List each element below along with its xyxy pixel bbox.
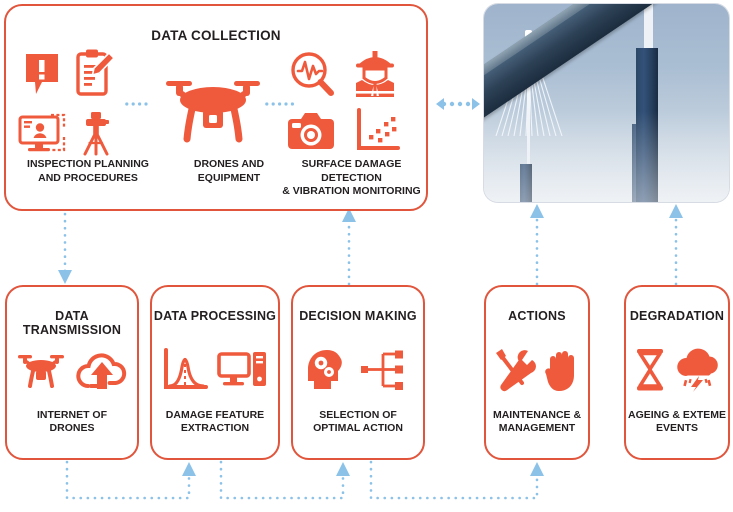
connector-transmission-to-processing <box>67 462 196 498</box>
hourglass-icon <box>633 347 667 393</box>
drone-dots-right <box>260 102 304 106</box>
decision-making-icons <box>293 343 423 397</box>
desktop-computer-icon <box>217 348 269 392</box>
degradation-icons <box>626 343 728 397</box>
data-transmission-title: DATA TRANSMISSION <box>7 309 137 337</box>
alert-speech-bubble-icon <box>24 52 64 96</box>
connector-collection-to-transmission <box>58 214 72 284</box>
label-inspection-planning: INSPECTION PLANNING AND PROCEDURES <box>8 158 168 185</box>
hand-icon <box>544 347 582 393</box>
actions-icons <box>486 343 588 397</box>
connector-decision-to-actions <box>371 462 544 498</box>
data-collection-title: DATA COLLECTION <box>6 28 426 43</box>
data-transmission-subtitle: INTERNET OF DRONES <box>7 409 137 435</box>
decision-making-subtitle: SELECTION OF OPTIMAL ACTION <box>293 409 423 435</box>
magnifier-waveform-icon <box>289 50 335 98</box>
data-processing-title: DATA PROCESSING <box>152 309 278 323</box>
degradation-title: DEGRADATION <box>626 309 728 323</box>
decision-tree-icon <box>359 348 411 392</box>
data-collection-panel[interactable]: DATA COLLECTION <box>4 4 428 211</box>
survey-tripod-icon <box>79 110 113 156</box>
decision-making-panel[interactable]: DECISION MAKING <box>291 285 425 460</box>
data-processing-panel[interactable]: DATA PROCESSING <box>150 285 280 460</box>
bell-curve-chart-icon <box>161 347 209 393</box>
drone-dots-left <box>121 102 155 106</box>
data-transmission-icons <box>7 343 137 397</box>
data-processing-icons <box>152 343 278 397</box>
connector-degradation-to-bridge <box>669 204 683 284</box>
connector-actions-to-bridge <box>530 204 544 284</box>
data-processing-subtitle: DAMAGE FEATURE EXTRACTION <box>152 409 278 435</box>
degradation-panel[interactable]: DEGRADATION <box>624 285 730 460</box>
engineer-hardhat-icon <box>354 48 396 98</box>
actions-title: ACTIONS <box>486 309 588 323</box>
scatter-plot-icon <box>354 108 400 154</box>
actions-subtitle: MAINTENANCE & MANAGEMENT <box>486 409 588 435</box>
decision-making-title: DECISION MAKING <box>293 309 423 323</box>
infographic-canvas: DATA COLLECTION <box>0 0 733 512</box>
degradation-subtitle: AGEING & EXTEME EVENTS <box>626 409 728 435</box>
connector-processing-to-decision <box>221 462 350 498</box>
clipboard-pencil-icon <box>74 48 118 98</box>
tools-wrench-screwdriver-icon <box>492 347 536 393</box>
camera-icon <box>286 110 336 152</box>
cable-stayed-bridge-photo <box>484 4 729 202</box>
storm-cloud-lightning-icon <box>675 348 721 392</box>
connector-collection-to-bridge <box>436 98 480 110</box>
label-surface-damage: SURFACE DAMAGE DETECTION & VIBRATION MON… <box>274 158 429 199</box>
photo-haze <box>484 111 729 202</box>
drone-icon <box>15 348 67 392</box>
actions-panel[interactable]: ACTIONS MAINTENANCE & MANAGEMENT <box>484 285 590 460</box>
drone-icon <box>154 62 272 148</box>
data-transmission-panel[interactable]: DATA TRANSMISSION <box>5 285 139 460</box>
head-gears-icon <box>305 347 351 393</box>
connector-decision-to-collection <box>342 208 356 284</box>
monitor-inspection-icon <box>18 113 68 155</box>
cloud-upload-icon <box>75 348 129 392</box>
